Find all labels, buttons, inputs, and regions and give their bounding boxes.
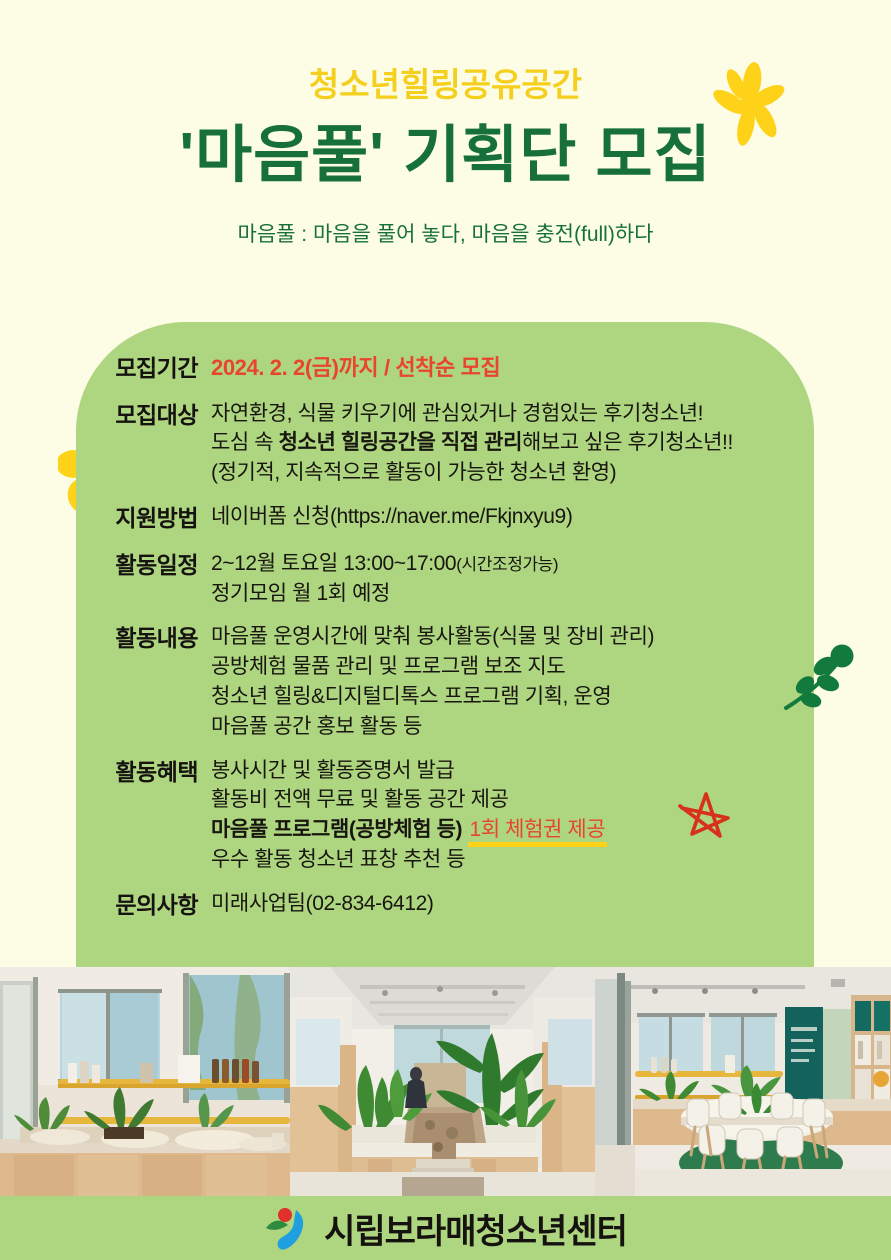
row-label: 활동일정 [76,549,198,582]
row-value: 2~12월 토요일 13:00~17:00(시간조정가능) 정기모임 월 1회 … [198,549,814,609]
page-title: '마음풀' 기획단 모집 [0,104,891,194]
row-value: 네이버폼 신청(https://naver.me/Fkjnxyu9) [198,502,814,532]
benefit-line-3: 마음풀 프로그램(공방체험 등) 1회 체험권 제공 [211,815,814,845]
target-line-1: 자연환경, 식물 키우기에 관심있거나 경험있는 후기청소년! [211,399,814,429]
photo-strip [0,967,891,1196]
target-line-2-pre: 도심 속 [211,431,279,454]
target-line-2: 도심 속 청소년 힐링공간을 직접 관리해보고 싶은 후기청소년!! [211,428,814,458]
schedule-line-2: 정기모임 월 1회 예정 [211,579,814,609]
header-eyebrow: 청소년힐링공유공간 [0,58,891,106]
activity-line-2: 공방체험 물품 관리 및 프로그램 보조 지도 [211,652,814,682]
info-row-contact: 문의사항 미래사업팀(02-834-6412) [76,889,814,922]
footer-bar: 시립보라매청소년센터 [0,1196,891,1260]
row-label: 문의사항 [76,889,198,922]
row-value: 미래사업팀(02-834-6412) [198,889,814,919]
schedule-line-1: 2~12월 토요일 13:00~17:00(시간조정가능) [211,549,814,579]
photo-interior-green-corridor [290,967,595,1196]
row-value: 봉사시간 및 활동증명서 발급 활동비 전액 무료 및 활동 공간 제공 마음풀… [198,756,814,875]
boramae-center-logo-icon [264,1206,310,1250]
row-label: 활동혜택 [76,756,198,789]
info-card: 모집기간 2024. 2. 2(금)까지 / 선착순 모집 모집대상 자연환경,… [76,322,814,967]
row-label: 활동내용 [76,622,198,655]
row-value: 자연환경, 식물 키우기에 관심있거나 경험있는 후기청소년! 도심 속 청소년… [198,399,814,488]
row-label: 모집기간 [76,352,198,385]
apply-method-link[interactable]: 네이버폼 신청(https://naver.me/Fkjnxyu9) [211,502,814,532]
info-row-recruit-period: 모집기간 2024. 2. 2(금)까지 / 선착순 모집 [76,352,814,385]
header-subtitle: 마음풀 : 마음을 풀어 놓다, 마음을 충전(full)하다 [0,218,891,248]
photo-interior-meeting-table [595,967,891,1196]
row-value: 2024. 2. 2(금)까지 / 선착순 모집 [198,352,814,383]
target-line-3: (정기적, 지속적으로 활동이 가능한 청소년 환영) [211,458,814,488]
info-rows: 모집기간 2024. 2. 2(금)까지 / 선착순 모집 모집대상 자연환경,… [76,352,814,936]
contact-text: 미래사업팀(02-834-6412) [211,889,814,919]
poster-header: 청소년힐링공유공간 '마음풀' 기획단 모집 마음풀 : 마음을 풀어 놓다, … [0,0,891,290]
schedule-time: 2~12월 토요일 13:00~17:00 [211,552,456,575]
info-row-target: 모집대상 자연환경, 식물 키우기에 관심있거나 경험있는 후기청소년! 도심 … [76,399,814,488]
photo-interior-shelves-plants [0,967,290,1196]
activity-line-4: 마음풀 공간 홍보 활동 등 [211,712,814,742]
benefit-line-4: 우수 활동 청소년 표창 추천 등 [211,845,814,875]
info-row-benefits: 활동혜택 봉사시간 및 활동증명서 발급 활동비 전액 무료 및 활동 공간 제… [76,756,814,875]
info-row-schedule: 활동일정 2~12월 토요일 13:00~17:00(시간조정가능) 정기모임 … [76,549,814,609]
activity-line-3: 청소년 힐링&디지털디톡스 프로그램 기획, 운영 [211,682,814,712]
row-label: 모집대상 [76,399,198,432]
benefit-highlight: 1회 체험권 제공 [468,815,608,845]
info-row-activities: 활동내용 마음풀 운영시간에 맞춰 봉사활동(식물 및 장비 관리) 공방체험 … [76,622,814,741]
row-label: 지원방법 [76,502,198,535]
footer-center-name: 시립보라매청소년센터 [324,1204,627,1253]
activity-line-1: 마음풀 운영시간에 맞춰 봉사활동(식물 및 장비 관리) [211,622,814,652]
benefit-program-bold: 마음풀 프로그램(공방체험 등) [211,818,462,841]
row-value: 마음풀 운영시간에 맞춰 봉사활동(식물 및 장비 관리) 공방체험 물품 관리… [198,622,814,741]
info-row-apply-method: 지원방법 네이버폼 신청(https://naver.me/Fkjnxyu9) [76,502,814,535]
schedule-note: (시간조정가능) [456,555,558,574]
target-line-2-post: 해보고 싶은 후기청소년!! [522,431,733,454]
target-line-2-bold: 청소년 힐링공간을 직접 관리 [279,431,522,454]
benefit-line-2: 활동비 전액 무료 및 활동 공간 제공 [211,785,814,815]
poster-root: 청소년힐링공유공간 '마음풀' 기획단 모집 마음풀 : 마음을 풀어 놓다, … [0,0,891,1260]
recruit-period-text: 2024. 2. 2(금)까지 / 선착순 모집 [211,352,814,383]
benefit-line-1: 봉사시간 및 활동증명서 발급 [211,756,814,786]
